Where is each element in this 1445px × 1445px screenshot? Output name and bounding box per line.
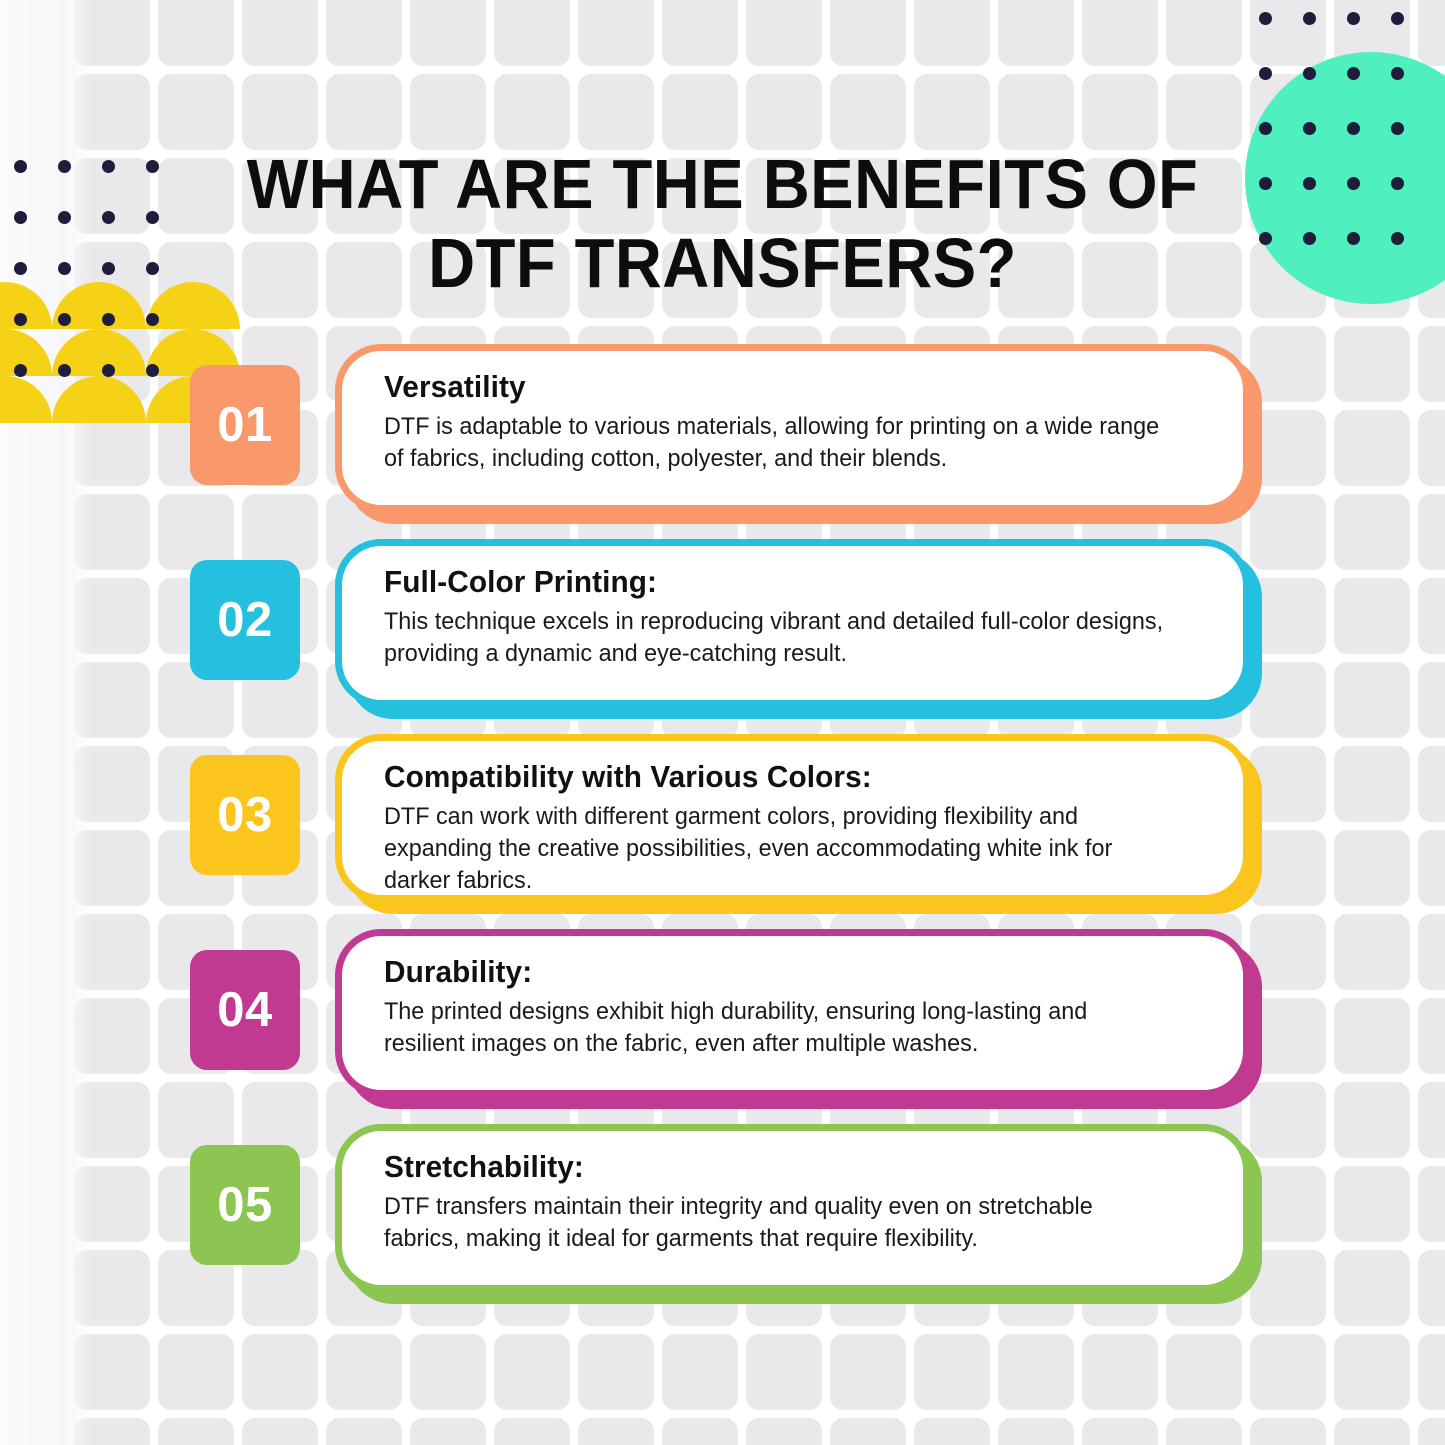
decorative-dot [1391,122,1404,135]
grid-tile [242,0,318,66]
benefit-row: 04Durability:The printed designs exhibit… [0,925,1445,1120]
decorative-dot [1347,232,1360,245]
decorative-dot [1303,12,1316,25]
grid-tile [830,1418,906,1445]
decorative-dot [14,262,27,275]
grid-tile [1334,1334,1410,1410]
decorative-dot [146,160,159,173]
decorative-dot [1391,232,1404,245]
grid-tile [746,74,822,150]
grid-tile [326,1334,402,1410]
benefit-title: Full-Color Printing: [384,564,1176,600]
grid-tile [326,74,402,150]
decorative-dot [58,313,71,326]
grid-tile [578,74,654,150]
benefit-number-badge: 03 [190,755,300,875]
grid-tile [494,74,570,150]
grid-tile [1082,1334,1158,1410]
decorative-dot [102,211,115,224]
benefit-number-badge: 05 [190,1145,300,1265]
decorative-dot [58,211,71,224]
decorative-dot [58,160,71,173]
grid-tile [326,1418,402,1445]
benefit-list: 01VersatilityDTF is adaptable to various… [0,340,1445,1315]
benefit-description: DTF transfers maintain their integrity a… [384,1191,1172,1255]
grid-tile [1082,74,1158,150]
decorative-dot [146,313,159,326]
decorative-dot [1347,67,1360,80]
decorative-dot [1259,122,1272,135]
grid-tile [578,0,654,66]
grid-tile [1418,1418,1445,1445]
grid-tile [494,0,570,66]
grid-tile [998,1334,1074,1410]
grid-tile [662,1334,738,1410]
grid-tile [830,0,906,66]
decorative-dot [102,160,115,173]
grid-tile [1250,1334,1326,1410]
decorative-dot [14,211,27,224]
grid-tile [998,1418,1074,1445]
grid-tile [1166,1418,1242,1445]
decorative-dot [1259,67,1272,80]
grid-tile [914,1418,990,1445]
grid-tile [662,1418,738,1445]
decorative-dot [102,262,115,275]
grid-tile [242,1334,318,1410]
grid-tile [158,1418,234,1445]
decorative-dot [14,313,27,326]
benefit-number-badge: 01 [190,365,300,485]
benefit-description: DTF can work with different garment colo… [384,801,1172,897]
grid-tile [158,0,234,66]
grid-tile [410,1334,486,1410]
benefit-card-body: Compatibility with Various Colors:DTF ca… [335,734,1250,902]
decorative-dot [1303,232,1316,245]
benefit-description: DTF is adaptable to various materials, a… [384,411,1172,475]
decorative-dot [102,313,115,326]
grid-tile [578,1334,654,1410]
decorative-dot [1391,177,1404,190]
benefit-title: Versatility [384,369,1176,405]
benefit-row: 02Full-Color Printing:This technique exc… [0,535,1445,730]
grid-tile [410,0,486,66]
grid-tile [1082,1418,1158,1445]
benefit-card-body: Stretchability:DTF transfers maintain th… [335,1124,1250,1292]
grid-tile [1166,1334,1242,1410]
grid-tile [1250,1418,1326,1445]
decorative-dot [1259,232,1272,245]
benefit-number-badge: 02 [190,560,300,680]
decorative-dot [1391,67,1404,80]
benefit-card-body: Full-Color Printing:This technique excel… [335,539,1250,707]
decorative-dot [1259,177,1272,190]
decorative-dot [1303,67,1316,80]
grid-tile [326,0,402,66]
benefit-card-body: VersatilityDTF is adaptable to various m… [335,344,1250,512]
decorative-dot [14,160,27,173]
grid-tile [494,1418,570,1445]
decorative-dot [1259,12,1272,25]
decorative-dot [1391,12,1404,25]
benefit-number-badge: 04 [190,950,300,1070]
grid-tile [914,0,990,66]
grid-tile [158,1334,234,1410]
decorative-dot [1347,177,1360,190]
decorative-dot [58,262,71,275]
benefit-description: This technique excels in reproducing vib… [384,606,1172,670]
grid-tile [746,1418,822,1445]
benefit-card: VersatilityDTF is adaptable to various m… [335,344,1250,512]
grid-tile [746,1334,822,1410]
grid-tile [410,74,486,150]
grid-tile [578,1418,654,1445]
grid-tile [830,1334,906,1410]
grid-tile [1082,0,1158,66]
decorative-dot [1347,122,1360,135]
benefit-title: Stretchability: [384,1149,1176,1185]
grid-tile [746,0,822,66]
grid-tile [914,74,990,150]
decorative-dot [1303,177,1316,190]
dot-grid-top-right-icon [1259,12,1435,287]
benefit-card: Durability:The printed designs exhibit h… [335,929,1250,1097]
grid-tile [1166,0,1242,66]
decorative-dot [146,262,159,275]
benefit-card: Full-Color Printing:This technique excel… [335,539,1250,707]
grid-tile [1166,74,1242,150]
grid-tile [914,1334,990,1410]
grid-tile [662,0,738,66]
page-title: WHAT ARE THE BENEFITS OF DTF TRANSFERS? [190,145,1255,303]
benefit-row: 01VersatilityDTF is adaptable to various… [0,340,1445,535]
decorative-dot [1347,12,1360,25]
benefit-title: Compatibility with Various Colors: [384,759,1176,795]
infographic-poster: WHAT ARE THE BENEFITS OF DTF TRANSFERS? … [0,0,1445,1445]
grid-tile [1418,1334,1445,1410]
benefit-card-body: Durability:The printed designs exhibit h… [335,929,1250,1097]
grid-tile [998,74,1074,150]
benefit-row: 03Compatibility with Various Colors:DTF … [0,730,1445,925]
grid-tile [662,74,738,150]
grid-tile [242,74,318,150]
benefit-card: Compatibility with Various Colors:DTF ca… [335,734,1250,902]
benefit-card: Stretchability:DTF transfers maintain th… [335,1124,1250,1292]
decorative-dot [1303,122,1316,135]
grid-tile [998,0,1074,66]
grid-tile [158,74,234,150]
benefit-title: Durability: [384,954,1176,990]
decorative-dot [146,211,159,224]
grid-tile [242,1418,318,1445]
benefit-row: 05Stretchability:DTF transfers maintain … [0,1120,1445,1315]
grid-tile [410,1418,486,1445]
grid-tile [830,74,906,150]
grid-tile [1334,1418,1410,1445]
grid-tile [494,1334,570,1410]
benefit-description: The printed designs exhibit high durabil… [384,996,1172,1060]
